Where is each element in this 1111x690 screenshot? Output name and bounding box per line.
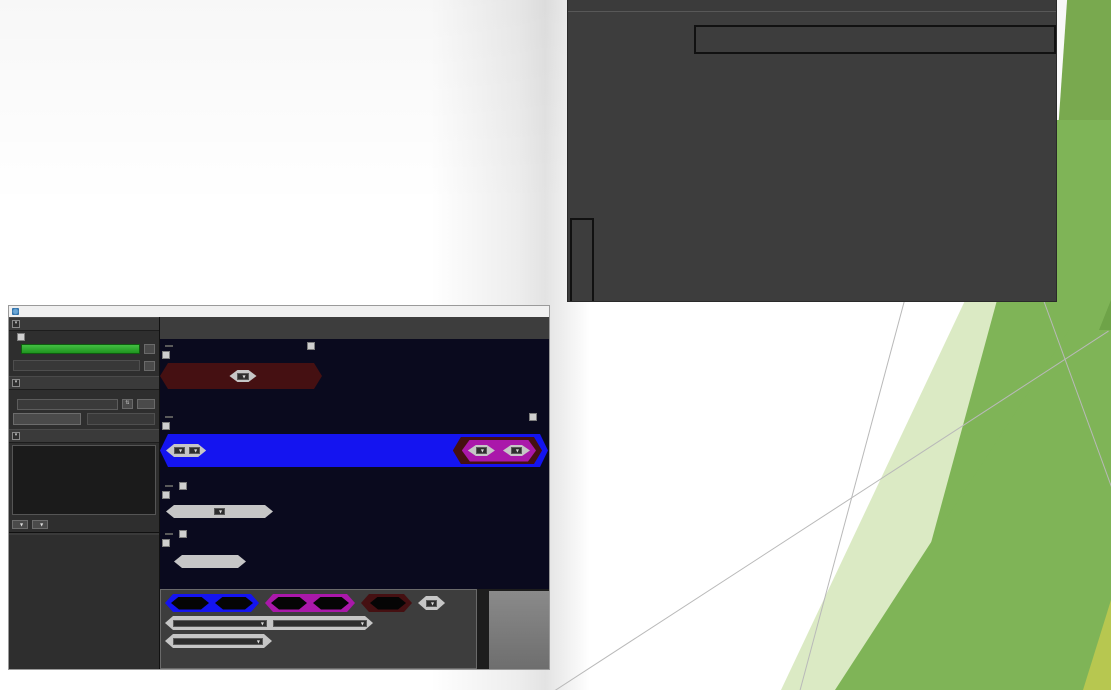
gpio-block-4-name[interactable] [165, 533, 173, 535]
no-new-version-bar [13, 360, 140, 371]
toolbox-gpi-block[interactable]: ▼ [418, 596, 445, 610]
collapse-caret-icon[interactable]: ▾ [12, 379, 20, 387]
snmp-status-row [9, 390, 159, 393]
barnstudio-right-pane: ▼ [160, 317, 549, 669]
bullet-item-2 [588, 425, 614, 452]
barnstudio-screenshot: ▾ [8, 305, 550, 670]
multicast-actions: ▼ ▼ [9, 517, 159, 532]
toolbox-source-select[interactable]: ▼ [273, 620, 367, 627]
and-right-socket [215, 597, 253, 610]
snmp-buttons-row [9, 411, 159, 426]
gpio-gpi-node-3[interactable]: ▼ [166, 505, 273, 518]
barnstudio-titlebar [9, 306, 549, 317]
update-status-row [9, 342, 159, 355]
inverse-socket [370, 597, 406, 610]
close-on-false-checkbox[interactable] [179, 482, 187, 490]
and-left-socket [171, 597, 209, 610]
setup-button[interactable]: ▼ [32, 520, 48, 529]
slide-canvas: ▾ [0, 0, 1111, 690]
gpio-los-node-2[interactable]: ▼ [468, 445, 495, 456]
close-on-false-checkbox[interactable] [307, 342, 315, 350]
gpio-editor: ▼ [160, 339, 549, 589]
gpio-block-3-name[interactable] [165, 485, 173, 487]
gpio-inverse-node-2[interactable]: ▼ ▼ [453, 437, 542, 464]
force-check-button[interactable] [21, 344, 140, 354]
gpio-or-node[interactable]: ▼ ▼ [462, 440, 536, 462]
toolbox-row-1: ▼ [161, 592, 476, 614]
gpio-block-2-name[interactable] [165, 416, 173, 418]
gpio-block-4-header [160, 529, 280, 539]
close-on-false-checkbox[interactable] [179, 530, 187, 538]
scripting-checkbox[interactable] [162, 539, 170, 547]
toolbox-los-select[interactable]: ▼ [173, 638, 263, 645]
gpio-gpi-select-2[interactable]: ▼ [511, 447, 522, 454]
gpio-output-select[interactable]: ▼ [174, 447, 185, 454]
gpio-los-select-1[interactable]: ▼ [237, 373, 248, 380]
chevron-down-icon: ▼ [361, 621, 364, 626]
toolbox-row-2: ▼ ▼ [161, 614, 476, 632]
open-port-button[interactable] [13, 413, 81, 425]
bullet-item-4 [588, 555, 614, 582]
snmp-port-row: ⇅ [9, 397, 159, 411]
barnstudio-main: ▾ [9, 317, 549, 669]
chevron-down-icon: ▼ [179, 448, 182, 453]
multicast-column-headers [13, 446, 155, 514]
updates-section-header[interactable]: ▾ [9, 317, 159, 331]
gpio-output-condition[interactable]: ▼ ▼ [166, 444, 206, 457]
multicast-scope-table [12, 445, 156, 515]
done-button[interactable] [489, 591, 549, 669]
or-right-socket [313, 597, 349, 610]
barnstudio-tab-area [160, 317, 549, 339]
chevron-down-icon: ▼ [194, 448, 197, 453]
chevron-down-icon: ▼ [40, 522, 43, 527]
toolbox-los-block[interactable]: ▼ [165, 634, 272, 648]
matrix-body [568, 12, 1056, 302]
matrix-group-header [694, 25, 1056, 54]
toolbox-gpi-select[interactable]: ▼ [426, 600, 437, 607]
periodic-check-row [9, 331, 159, 342]
snmp-port-input[interactable] [17, 399, 118, 410]
scripting-checkbox[interactable] [162, 491, 170, 499]
toolbox-row-3: ▼ [161, 632, 476, 650]
gpio-inverse-node-1[interactable]: ▼ [160, 363, 322, 389]
spinner-icon[interactable]: ⇅ [122, 399, 133, 409]
barnstudio-left-pane: ▾ [9, 317, 160, 669]
chevron-down-icon: ▼ [516, 448, 519, 453]
gpio-block-2[interactable]: ▼ ▼ [160, 412, 542, 469]
gpio-block-2-header [160, 412, 542, 422]
collapse-caret-icon[interactable]: ▾ [12, 432, 20, 440]
chevron-down-icon: ▼ [481, 448, 484, 453]
scripting-checkbox[interactable] [162, 422, 170, 430]
chevron-down-icon: ▼ [20, 522, 23, 527]
version-options-button[interactable] [144, 361, 155, 371]
chevron-down-icon: ▼ [431, 601, 434, 606]
chevron-down-icon: ▼ [242, 374, 245, 379]
snmp-reset-button[interactable] [137, 399, 155, 409]
gpio-gpi-select-3[interactable]: ▼ [214, 508, 225, 515]
close-port-button[interactable] [87, 413, 155, 425]
gpio-node-4[interactable] [174, 555, 246, 568]
periodic-check-checkbox[interactable] [17, 333, 25, 341]
matrix-tab-bar[interactable] [568, 0, 1056, 12]
barnstudio-tab-row-2[interactable] [160, 328, 549, 339]
scripting-checkbox[interactable] [162, 351, 170, 359]
matrix-row-group-label [570, 218, 594, 302]
chevron-down-icon: ▼ [261, 621, 264, 626]
or-left-socket [271, 597, 307, 610]
add-button[interactable]: ▼ [12, 520, 28, 529]
toolbox-output-block[interactable]: ▼ ▼ [165, 616, 373, 630]
device-table-header [9, 532, 159, 535]
gpio-los-select-2[interactable]: ▼ [476, 447, 487, 454]
matrix-screenshot [567, 0, 1057, 302]
gpio-block-1[interactable]: ▼ [160, 341, 320, 391]
gpio-block-3[interactable]: ▼ [160, 481, 280, 522]
gpio-block-1-name[interactable] [165, 345, 173, 347]
gpio-gpi-node-2[interactable]: ▼ [503, 445, 530, 456]
collapse-caret-icon[interactable]: ▾ [12, 320, 20, 328]
chevron-down-icon: ▼ [257, 639, 260, 644]
gpio-and-node[interactable]: ▼ ▼ [160, 434, 548, 467]
barnstudio-tab-row-1[interactable] [160, 317, 549, 328]
toolbox-and-block[interactable] [165, 594, 259, 612]
toolbox-output-select[interactable]: ▼ [173, 620, 267, 627]
gpio-source-select[interactable]: ▼ [189, 447, 200, 454]
gpio-block-4[interactable] [160, 529, 280, 576]
toolbox-or-block[interactable] [265, 594, 355, 612]
close-on-false-checkbox[interactable] [529, 413, 537, 421]
gpio-block-1-header [160, 341, 320, 351]
multicast-section-header[interactable]: ▾ [9, 429, 159, 443]
gpio-toolbox: ▼ ▼ ▼ [160, 589, 477, 669]
snmp-section-header[interactable]: ▾ [9, 376, 159, 390]
bullet-item-1 [588, 360, 614, 387]
app-logo-icon [12, 308, 19, 315]
gpio-los-node-1[interactable]: ▼ [229, 370, 256, 382]
toolbox-inverse-block[interactable] [361, 594, 412, 612]
bullet-item-3 [588, 490, 614, 517]
gpio-block-3-header [160, 481, 280, 491]
chevron-down-icon: ▼ [219, 509, 222, 514]
force-check-options-button[interactable] [144, 344, 155, 354]
